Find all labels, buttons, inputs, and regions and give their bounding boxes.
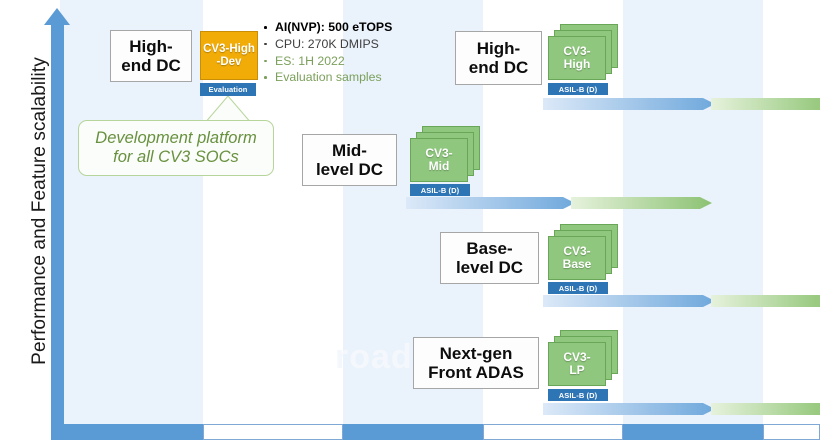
roadmap-arrow-cv3-lp — [543, 400, 820, 418]
asil-badge-cv3-high: ASIL-B (D) — [548, 83, 608, 95]
soc-card-front-cv3-high: CV3- High — [548, 36, 606, 80]
tier-box-base-level-dc: Base- level DC — [440, 232, 539, 284]
tier-box-high-end-dc: High- end DC — [455, 31, 542, 85]
spec-item-cpu: CPU: 270K DMIPS — [262, 36, 392, 53]
tier-box-mid-level-dc: Mid- level DC — [302, 134, 397, 186]
x-axis-segment — [203, 424, 343, 440]
tier-box-high-end-dc-dev: High- end DC — [110, 30, 192, 82]
y-axis-shaft — [51, 22, 64, 426]
roadmap-arrow-cv3-high — [543, 95, 820, 113]
dev-platform-spec-list: AI(NVP): 500 eTOPS CPU: 270K DMIPS ES: 1… — [262, 19, 392, 86]
x-axis-segment — [763, 424, 820, 440]
soc-stack-cv3-high[interactable]: CV3- High — [548, 24, 622, 80]
y-axis-label: Performance and Feature scalability — [29, 1, 51, 421]
soc-card-front-cv3-mid: CV3- Mid — [410, 138, 468, 182]
soc-stack-cv3-lp[interactable]: CV3- LP — [548, 330, 622, 386]
callout-development-platform: Development platform for all CV3 SOCs — [78, 120, 274, 176]
status-badge-evaluation: Evaluation — [200, 83, 256, 96]
tier-box-next-gen-front-adas: Next-gen Front ADAS — [413, 337, 539, 389]
roadmap-arrow-cv3-base — [543, 292, 820, 310]
soc-chip-cv3-high-dev[interactable]: CV3-High -Dev — [200, 31, 258, 80]
soc-card-front-cv3-base: CV3- Base — [548, 236, 606, 280]
spec-item-es: ES: 1H 2022 — [262, 53, 392, 70]
x-axis-bar — [51, 424, 820, 440]
soc-card-front-cv3-lp: CV3- LP — [548, 342, 606, 386]
roadmap-arrow-cv3-mid — [406, 194, 716, 212]
spec-item-ai-nvp: AI(NVP): 500 eTOPS — [262, 19, 392, 36]
x-axis-segment — [483, 424, 623, 440]
roadmap-diagram: roadma Performance and Feature scalabili… — [0, 0, 820, 440]
spec-item-samples: Evaluation samples — [262, 69, 392, 86]
soc-stack-cv3-mid[interactable]: CV3- Mid — [410, 126, 484, 182]
soc-stack-cv3-base[interactable]: CV3- Base — [548, 224, 622, 280]
